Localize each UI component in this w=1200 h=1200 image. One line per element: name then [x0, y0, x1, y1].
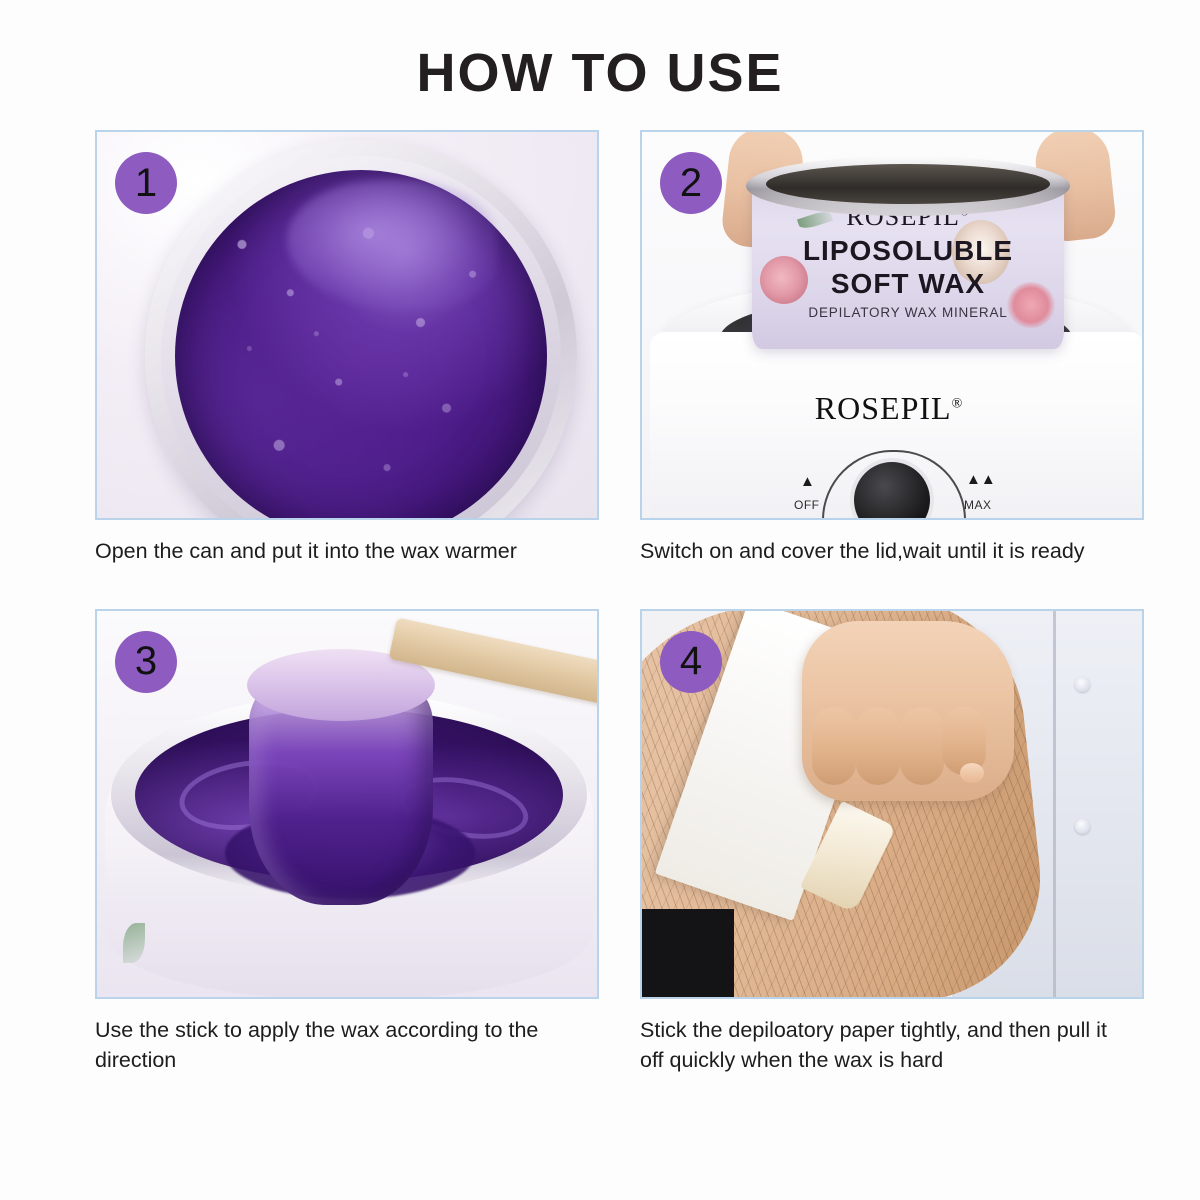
step-card-4: 4 Stick the depiloatory paper tightly, a… — [640, 609, 1144, 1076]
steps-grid: 1 Open the can and put it into the wax w… — [95, 130, 1137, 1076]
page-title: HOW TO USE — [0, 42, 1200, 104]
can-label-line3: DEPILATORY WAX MINERAL — [752, 305, 1064, 320]
flame-low-icon: ▲ — [800, 474, 815, 489]
step-caption-1: Open the can and put it into the wax war… — [95, 536, 590, 567]
step-4-photo: 4 — [640, 609, 1144, 999]
warmer-brand-text: ROSEPIL® — [642, 390, 1136, 427]
shirt-placket — [1053, 611, 1056, 999]
step-1-photo: 1 — [95, 130, 599, 520]
can-interior-wax — [766, 164, 1050, 204]
step-card-2: ROSEPIL® ▲ ▲▲ OFF MAX ROSEPIL® L — [640, 130, 1144, 567]
shirt-button-bottom — [1075, 819, 1090, 834]
step-caption-3: Use the stick to apply the wax according… — [95, 1015, 590, 1076]
step-badge-3: 3 — [115, 631, 177, 693]
dial-max-label: MAX — [964, 498, 992, 512]
finger-ring — [900, 707, 944, 785]
step-row-2: 3 Use the stick to apply the wax accordi… — [95, 609, 1137, 1076]
step-2-photo: ROSEPIL® ▲ ▲▲ OFF MAX ROSEPIL® L — [640, 130, 1144, 520]
step-3-photo: 3 — [95, 609, 599, 999]
shirt-button-top — [1075, 677, 1090, 692]
finger-index — [812, 707, 856, 785]
can-label-line2: SOFT WAX — [752, 268, 1064, 300]
row-spacer — [95, 567, 1137, 609]
dark-corner-shadow — [642, 909, 734, 997]
dial-off-label: OFF — [794, 498, 820, 512]
step-badge-1: 1 — [115, 152, 177, 214]
step-badge-4: 4 — [660, 631, 722, 693]
can-label-line1: LIPOSOLUBLE — [752, 235, 1064, 267]
step-card-1: 1 Open the can and put it into the wax w… — [95, 130, 599, 567]
flame-high-icon: ▲▲ — [966, 472, 996, 487]
finger-nail — [960, 763, 984, 783]
finger-middle — [856, 707, 900, 785]
warmer-registered-icon: ® — [952, 396, 964, 411]
step-caption-2: Switch on and cover the lid,wait until i… — [640, 536, 1135, 567]
warmer-brand-name: ROSEPIL — [815, 390, 952, 426]
step-card-3: 3 Use the stick to apply the wax accordi… — [95, 609, 599, 1076]
step-badge-2: 2 — [660, 152, 722, 214]
step-caption-4: Stick the depiloatory paper tightly, and… — [640, 1015, 1135, 1076]
step-row-1: 1 Open the can and put it into the wax w… — [95, 130, 1137, 567]
can-label: ROSEPIL® LIPOSOLUBLE SOFT WAX DEPILATORY… — [752, 202, 1064, 320]
